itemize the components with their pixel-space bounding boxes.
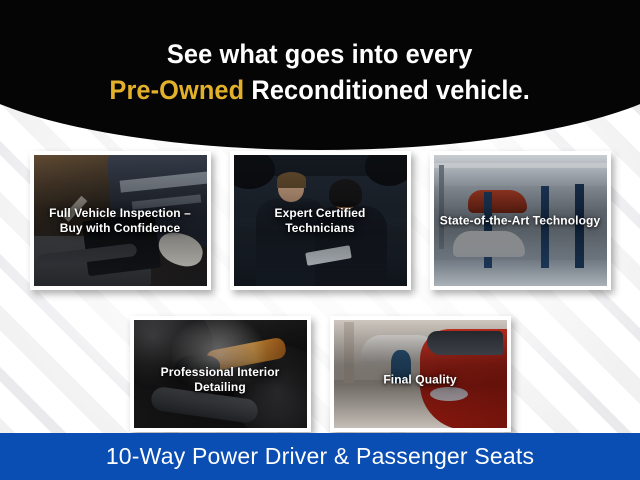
- caption-line-1: State-of-the-Art Technology: [440, 213, 600, 227]
- infographic-slide: See what goes into every Pre-Owned Recon…: [0, 0, 640, 480]
- banner-text: 10-Way Power Driver & Passenger Seats: [106, 443, 534, 470]
- feature-card-professional-interior-detailing[interactable]: Professional Interior Detailing: [130, 316, 311, 432]
- feature-card-final-quality[interactable]: Final Quality: [330, 316, 511, 432]
- feature-card-full-vehicle-inspection[interactable]: Full Vehicle Inspection – Buy with Confi…: [30, 151, 211, 290]
- headline-rest-text: Reconditioned vehicle.: [245, 75, 531, 105]
- feature-card-state-of-the-art-technology[interactable]: State-of-the-Art Technology: [430, 151, 611, 290]
- headline-line-1: See what goes into every: [167, 39, 473, 69]
- card-caption: Full Vehicle Inspection – Buy with Confi…: [34, 206, 207, 236]
- card-caption: State-of-the-Art Technology: [434, 213, 607, 228]
- caption-line-2: Buy with Confidence: [60, 221, 181, 235]
- caption-line-1: Final Quality: [383, 373, 456, 387]
- caption-line-1: Professional Interior: [161, 365, 280, 379]
- caption-line-2: Detailing: [194, 380, 246, 394]
- card-caption: Expert Certified Technicians: [234, 206, 407, 236]
- card-caption: Professional Interior Detailing: [134, 365, 307, 395]
- feature-cards-bottom-row: Professional Interior Detailing Final Qu…: [0, 316, 640, 432]
- headline-accent-text: Pre-Owned: [110, 75, 245, 105]
- header-banner: See what goes into every Pre-Owned Recon…: [0, 0, 640, 150]
- page-title: See what goes into every Pre-Owned Recon…: [110, 36, 530, 109]
- feature-banner: 10-Way Power Driver & Passenger Seats: [0, 433, 640, 480]
- card-caption: Final Quality: [334, 373, 507, 388]
- header-content: See what goes into every Pre-Owned Recon…: [0, 0, 640, 150]
- headline-line-2: Pre-Owned Reconditioned vehicle.: [110, 72, 530, 108]
- caption-line-1: Expert Certified Technicians: [275, 206, 366, 235]
- feature-card-expert-certified-technicians[interactable]: Expert Certified Technicians: [230, 151, 411, 290]
- caption-line-1: Full Vehicle Inspection –: [49, 206, 191, 220]
- feature-cards-top-row: Full Vehicle Inspection – Buy with Confi…: [0, 151, 640, 290]
